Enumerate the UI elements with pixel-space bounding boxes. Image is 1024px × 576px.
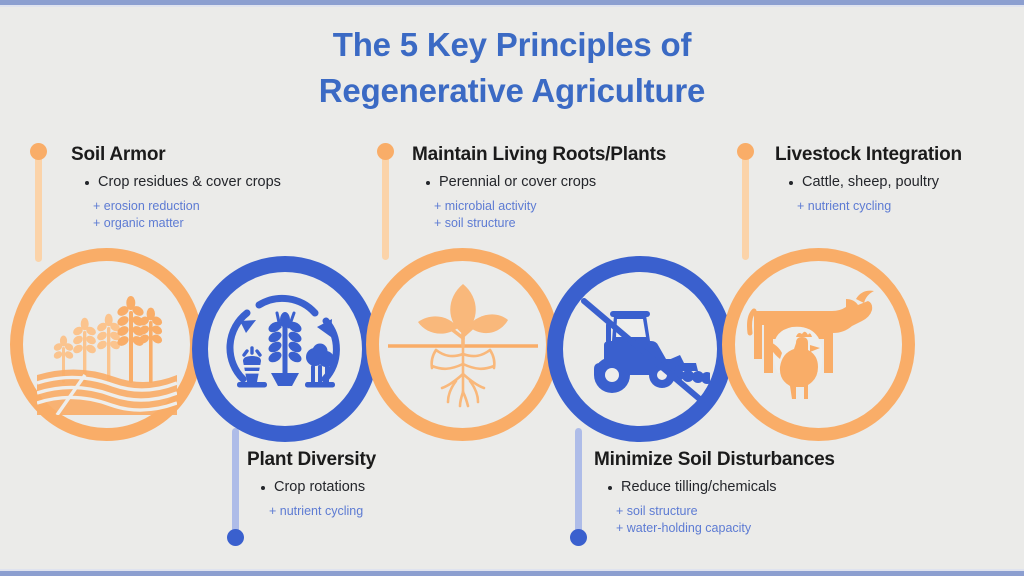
connector-dot-minimize-soil-disturbances [570, 529, 587, 546]
principle-benefit-maintain-living-roots-1: + soil structure [434, 215, 666, 231]
principle-benefit-soil-armor-1: + organic matter [93, 215, 281, 231]
principle-bullet-livestock-integration-0: Cattle, sheep, poultry [789, 173, 962, 192]
principle-heading-soil-armor: Soil Armor [71, 143, 281, 167]
bottom-inner-border [0, 569, 1024, 571]
principle-heading-maintain-living-roots: Maintain Living Roots/Plants [412, 143, 666, 167]
principle-block-plant-diversity: Plant Diversity Crop rotations + nutrien… [247, 448, 376, 519]
principle-block-maintain-living-roots: Maintain Living Roots/Plants Perennial o… [412, 143, 666, 231]
connector-stem-maintain-living-roots [382, 152, 389, 260]
principle-benefit-minimize-soil-disturbances-1: + water-holding capacity [616, 520, 835, 536]
crop-rotation-icon [219, 283, 351, 415]
principle-circle-soil-armor[interactable] [10, 248, 203, 441]
principle-bullet-soil-armor-0: Crop residues & cover crops [85, 173, 281, 192]
plant-roots-icon [388, 270, 538, 420]
connector-stem-minimize-soil-disturbances [575, 428, 582, 538]
top-inner-border [0, 5, 1024, 7]
principle-heading-plant-diversity: Plant Diversity [247, 448, 376, 472]
cow-chicken-icon [746, 277, 891, 412]
principle-benefit-maintain-living-roots-0: + microbial activity [434, 198, 666, 214]
connector-stem-livestock-integration [742, 152, 749, 260]
bottom-border [0, 571, 1024, 576]
principle-circle-plant-diversity[interactable] [192, 256, 378, 442]
principle-circle-livestock-integration[interactable] [722, 248, 915, 441]
connector-dot-soil-armor [30, 143, 47, 160]
no-tractor-tilling-icon [570, 279, 710, 419]
page-title: The 5 Key Principles of Regenerative Agr… [0, 22, 1024, 114]
wheat-field-icon [37, 275, 177, 415]
connector-dot-livestock-integration [737, 143, 754, 160]
principle-benefit-livestock-integration-0: + nutrient cycling [797, 198, 962, 214]
connector-stem-soil-armor [35, 152, 42, 262]
principle-heading-livestock-integration: Livestock Integration [775, 143, 962, 167]
connector-dot-maintain-living-roots [377, 143, 394, 160]
connector-dot-plant-diversity [227, 529, 244, 546]
principle-block-livestock-integration: Livestock Integration Cattle, sheep, pou… [775, 143, 962, 214]
principle-block-minimize-soil-disturbances: Minimize Soil Disturbances Reduce tillin… [594, 448, 835, 536]
principle-circle-maintain-living-roots[interactable] [366, 248, 559, 441]
connector-stem-plant-diversity [232, 428, 239, 538]
principle-bullet-minimize-soil-disturbances-0: Reduce tilling/chemicals [608, 478, 835, 497]
title-line-1: The 5 Key Principles of [333, 26, 692, 63]
principle-bullet-maintain-living-roots-0: Perennial or cover crops [426, 173, 666, 192]
principle-bullet-plant-diversity-0: Crop rotations [261, 478, 376, 497]
principle-benefit-soil-armor-0: + erosion reduction [93, 198, 281, 214]
principle-benefit-plant-diversity-0: + nutrient cycling [269, 503, 376, 519]
principle-heading-minimize-soil-disturbances: Minimize Soil Disturbances [594, 448, 835, 472]
principle-benefit-minimize-soil-disturbances-0: + soil structure [616, 503, 835, 519]
infographic-canvas: The 5 Key Principles of Regenerative Agr… [0, 0, 1024, 576]
principle-block-soil-armor: Soil Armor Crop residues & cover crops +… [71, 143, 281, 231]
title-line-2: Regenerative Agriculture [0, 68, 1024, 114]
principle-circle-minimize-soil-disturbances[interactable] [547, 256, 733, 442]
